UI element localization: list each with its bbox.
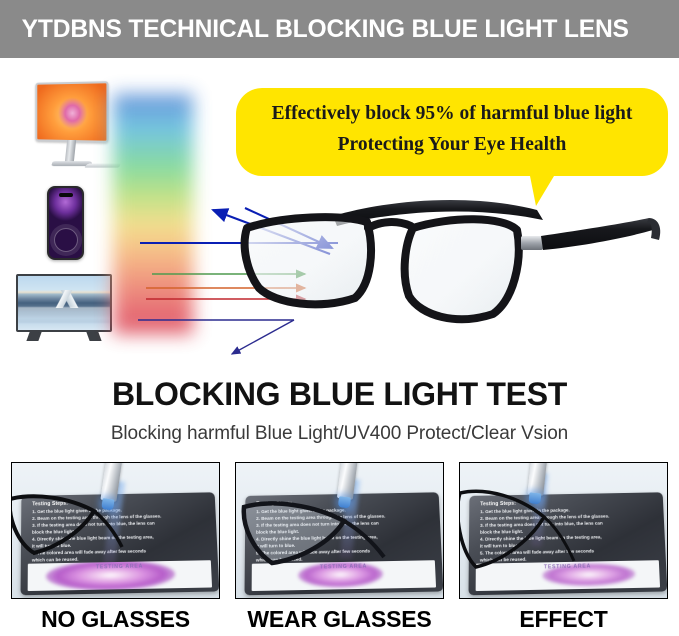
blue-light-blocking-eyeglasses — [225, 188, 670, 348]
panel-photo-effect: Testing Steps: 1. Get the blue light giv… — [459, 462, 668, 599]
panel-label-effect: EFFECT — [459, 599, 668, 633]
glasses-temple — [344, 521, 384, 557]
glasses-outline — [11, 496, 94, 553]
panel-photo-no-glasses: Testing Steps: 1. Get the blue light giv… — [11, 462, 220, 599]
panel-wear-glasses: Testing Steps: 1. Get the blue light giv… — [235, 462, 444, 633]
eyeglasses-in-photo — [459, 487, 576, 583]
section-heading-block: BLOCKING BLUE LIGHT TEST Blocking harmfu… — [0, 368, 679, 458]
section-subtitle: Blocking harmful Blue Light/UV400 Protec… — [0, 410, 679, 445]
page-title: YTDBNS TECHNICAL BLOCKING BLUE LIGHT LEN… — [0, 15, 629, 44]
panel-photo-wear-glasses: Testing Steps: 1. Get the blue light giv… — [235, 462, 444, 599]
temple-arm-near — [541, 218, 653, 250]
eyeglasses-in-photo — [11, 491, 126, 569]
callout-line-1: Effectively block 95% of harmful blue li… — [236, 102, 668, 126]
glasses-outline — [459, 491, 544, 567]
hero-section: Effectively block 95% of harmful blue li… — [0, 58, 679, 368]
panel-effect: Testing Steps: 1. Get the blue light giv… — [459, 462, 668, 633]
glasses-temple — [94, 511, 122, 547]
nose-bridge — [368, 222, 411, 228]
section-title: BLOCKING BLUE LIGHT TEST — [0, 368, 679, 410]
hinge-accent — [521, 236, 543, 250]
callout-line-2: Protecting Your Eye Health — [236, 126, 668, 157]
glasses-temple — [544, 517, 574, 561]
panel-no-glasses: Testing Steps: 1. Get the blue light giv… — [11, 462, 220, 633]
panel-label-no-glasses: NO GLASSES — [11, 599, 220, 633]
lens-right — [405, 219, 519, 319]
glasses-lens-over-card — [244, 503, 344, 563]
callout-text-group: Effectively block 95% of harmful blue li… — [236, 102, 668, 158]
lens-left — [245, 217, 371, 304]
header-bar: YTDBNS TECHNICAL BLOCKING BLUE LIGHT LEN… — [0, 0, 679, 58]
comparison-panel-group: Testing Steps: 1. Get the blue light giv… — [0, 462, 679, 636]
panel-label-wear-glasses: WEAR GLASSES — [235, 599, 444, 633]
eyeglasses-in-photo — [238, 497, 388, 577]
